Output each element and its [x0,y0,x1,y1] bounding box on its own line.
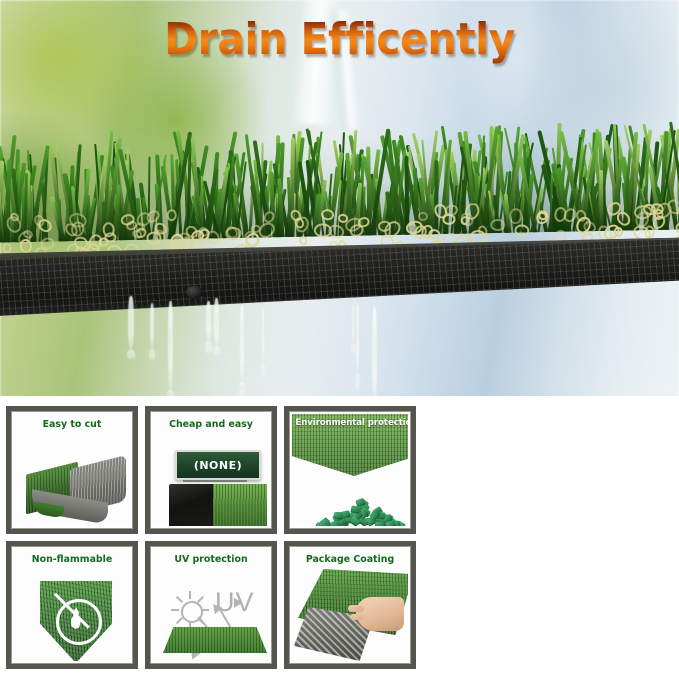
uv-turf-patch-icon [163,627,267,653]
feature-label-cheap-and-easy: Cheap and easy [156,419,265,430]
plaque-text: (NONE) [194,459,242,472]
green-turf-patch-icon [213,484,267,526]
feature-label-environmental-protection: Environmental protection materials [295,418,404,428]
hero-photo: Drain Efficently [0,0,679,398]
drain-hole-icon [186,286,203,299]
feature-cell-package-coating: Package Coating [284,541,416,669]
page-title: Drain Efficently [24,14,655,66]
feature-cell-easy-to-cut: Easy to cut [6,406,138,534]
feature-label-easy-to-cut: Easy to cut [17,419,126,430]
feature-grid: Easy to cut (NONE) Cheap and easy [6,406,420,669]
feature-cell-environmental-protection: Environmental protection materials [284,406,416,534]
feature-label-package-coating: Package Coating [295,554,404,565]
turf-slab [0,111,679,314]
feature-label-non-flammable: Non-flammable [17,554,126,565]
green-pellets-icon [308,498,404,526]
price-plaque-icon: (NONE) [175,450,261,480]
feature-cell-uv-protection: UV UV protection [145,541,277,669]
feature-label-uv-protection: UV protection [156,554,265,565]
lower-section: Easy to cut (NONE) Cheap and easy [0,396,679,679]
feature-cell-cheap-and-easy: (NONE) Cheap and easy [145,406,277,534]
feature-cell-non-flammable: Non-flammable [6,541,138,669]
rolled-turf-icon [26,450,126,522]
product-feature-image: Drain Efficently Easy to c [0,0,679,679]
